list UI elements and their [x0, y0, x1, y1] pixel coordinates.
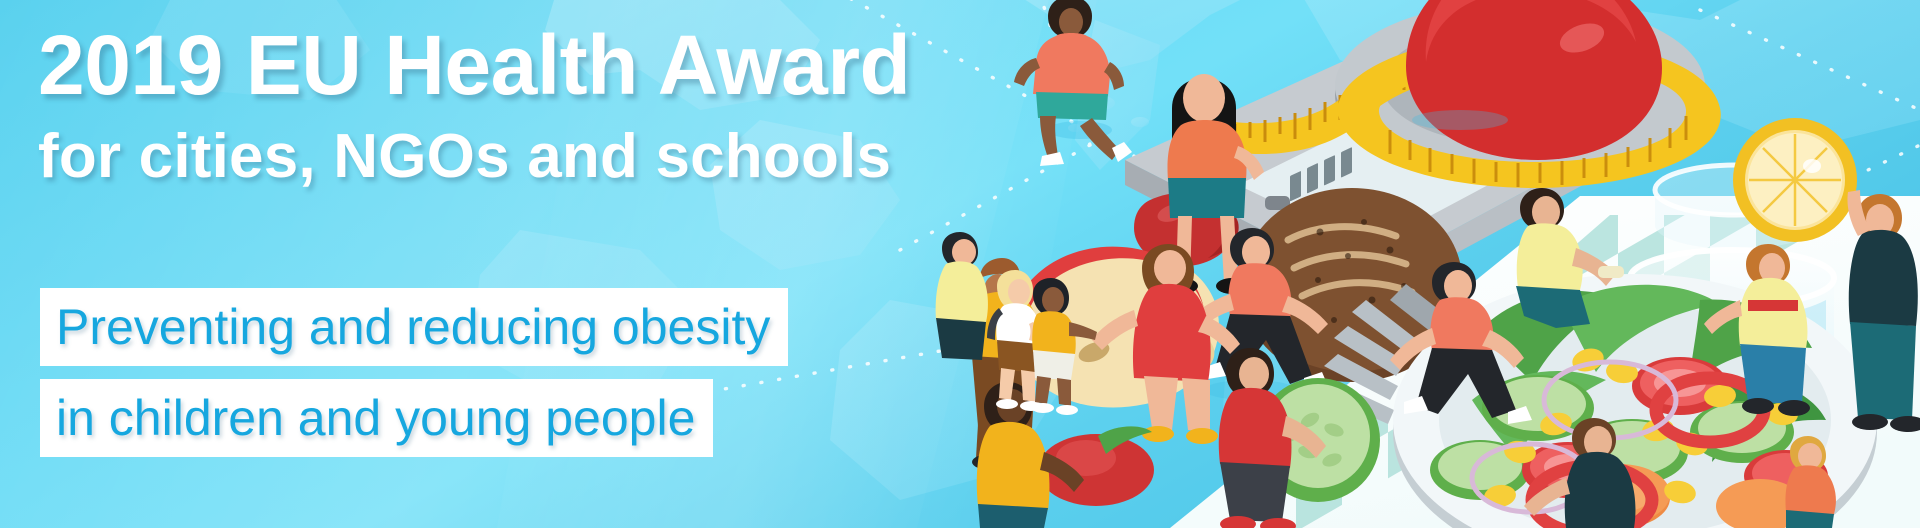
school-children: [975, 268, 1105, 428]
headline-line-2: for cities, NGOs and schools: [38, 122, 1068, 192]
subtitle-block: Preventing and reducing obesity in child…: [40, 288, 788, 457]
school-boy: [1032, 278, 1097, 415]
headline-line-1: 2019 EU Health Award: [38, 22, 1068, 108]
subtitle-line-1: Preventing and reducing obesity: [40, 288, 788, 366]
eu-health-award-banner: 2019 EU Health Award for cities, NGOs an…: [0, 0, 1920, 528]
subtitle-line-2: in children and young people: [40, 379, 713, 457]
lemon-slice: [1733, 118, 1857, 242]
headline-block: 2019 EU Health Award for cities, NGOs an…: [38, 22, 1068, 192]
healthy-food-illustration: [920, 0, 1920, 528]
